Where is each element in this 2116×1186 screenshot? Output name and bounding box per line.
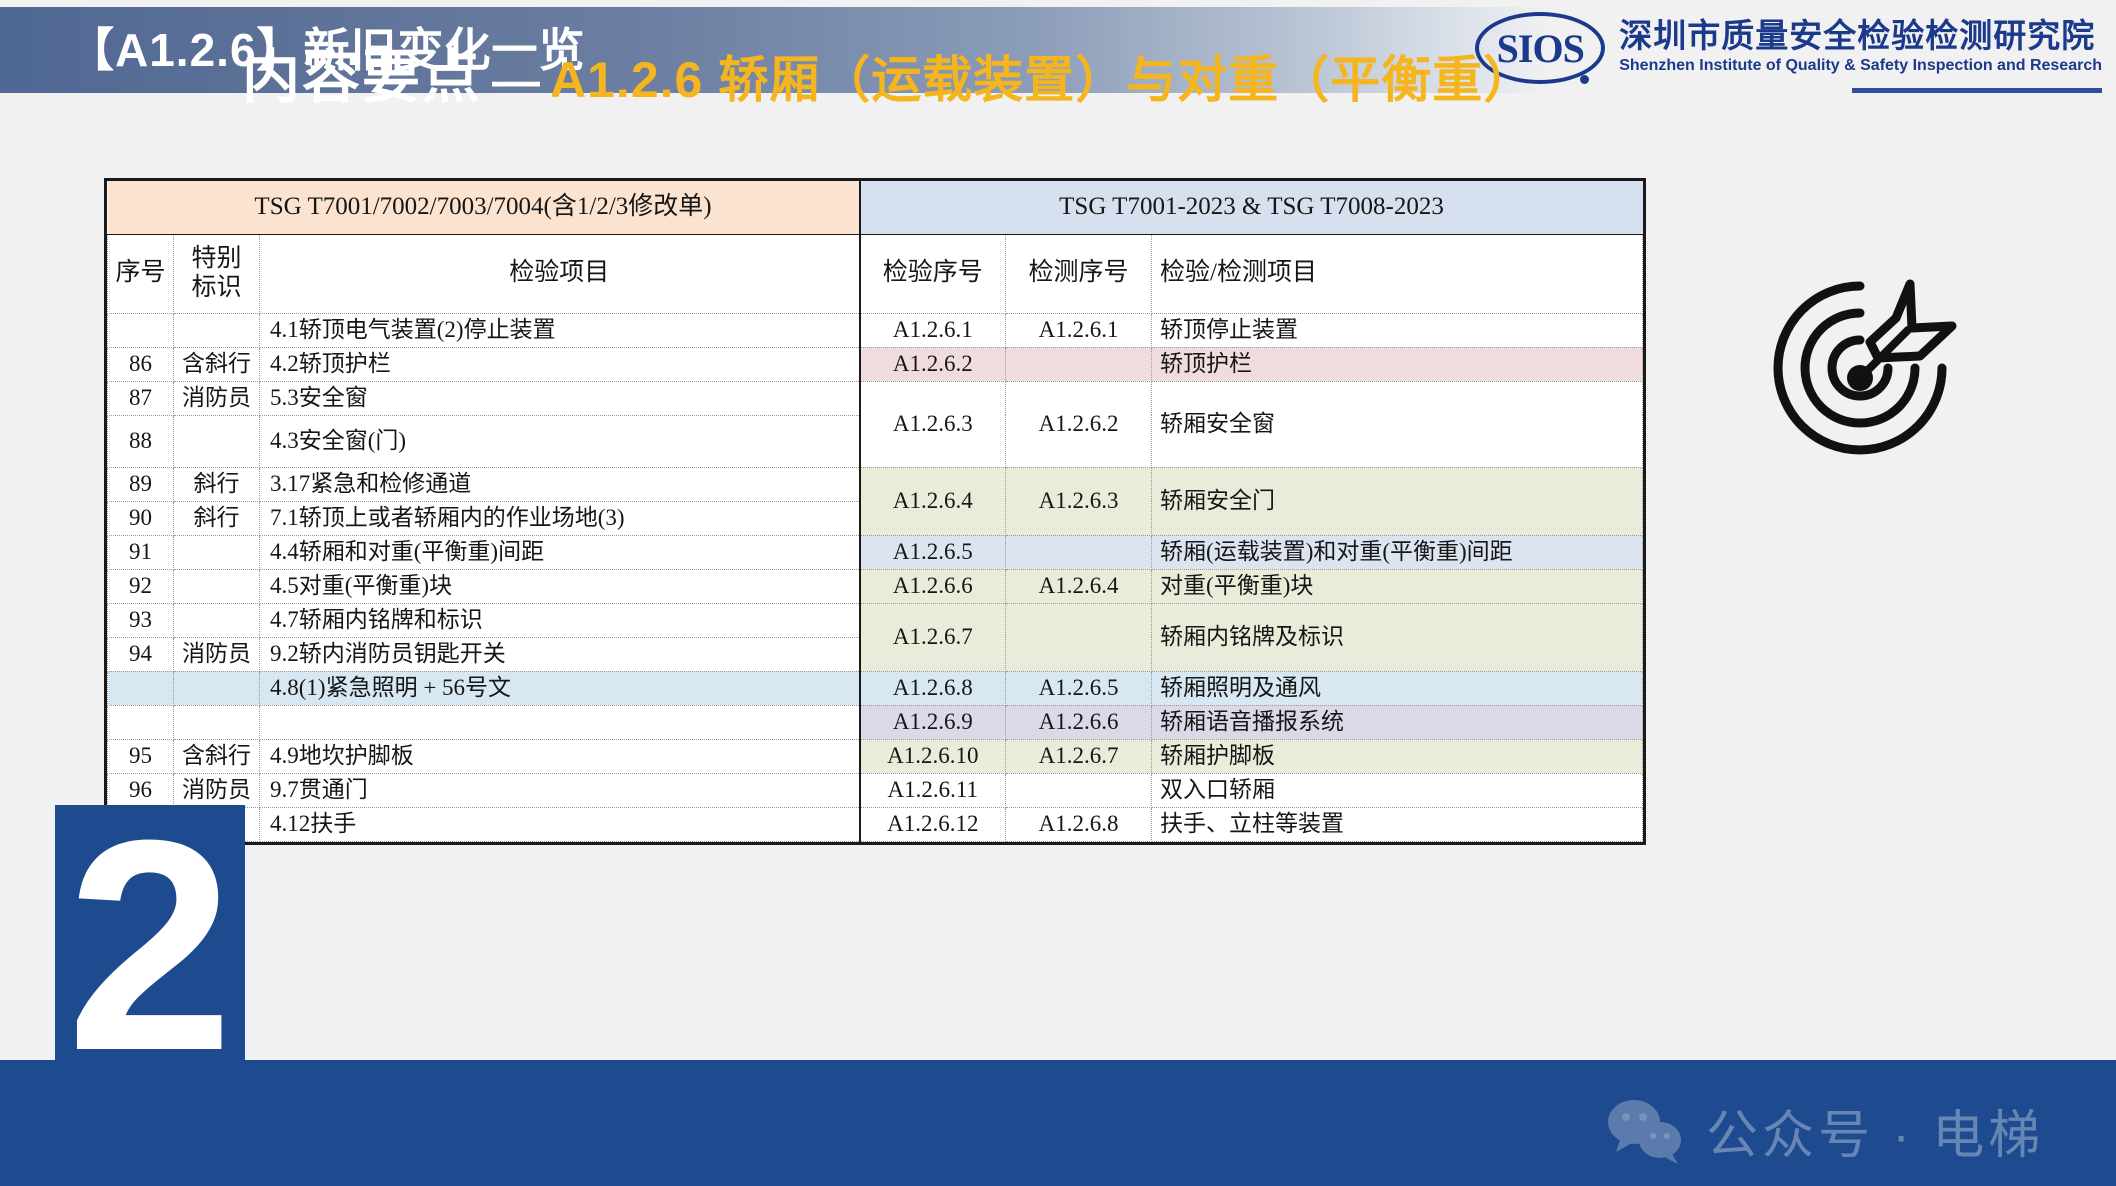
table-row: 86含斜行4.2轿顶护栏A1.2.6.2轿顶护栏 [108, 347, 1643, 381]
cell-item: 4.8(1)紧急照明 + 56号文 [260, 671, 860, 705]
table-group-header-row: TSG T7001/7002/7003/7004(含1/2/3修改单) TSG … [108, 181, 1643, 234]
cell-new-item: 轿厢照明及通风 [1152, 671, 1643, 705]
cell-inspect-no: A1.2.6.9 [860, 705, 1006, 739]
cell-detect-no: A1.2.6.2 [1006, 381, 1152, 467]
cell-new-item: 轿厢内铭牌及标识 [1152, 603, 1643, 671]
column-header-item: 检验项目 [260, 234, 860, 313]
table-row: 4.1轿顶电气装置(2)停止装置A1.2.6.1A1.2.6.1轿顶停止装置 [108, 313, 1643, 347]
table-row: 934.7轿厢内铭牌和标识A1.2.6.7轿厢内铭牌及标识 [108, 603, 1643, 637]
cell-new-item: 扶手、立柱等装置 [1152, 807, 1643, 841]
target-dart-icon [1760, 268, 1980, 468]
table-row: 914.4轿厢和对重(平衡重)间距A1.2.6.5轿厢(运载装置)和对重(平衡重… [108, 535, 1643, 569]
section-number: 2 [67, 818, 234, 1073]
cell-detect-no [1006, 603, 1152, 671]
cell-no: 86 [108, 347, 174, 381]
cell-inspect-no: A1.2.6.7 [860, 603, 1006, 671]
cell-item: 4.9地坎护脚板 [260, 739, 860, 773]
cell-new-item: 轿厢语音播报系统 [1152, 705, 1643, 739]
section-sub-label: A1.2.6 轿厢（运载装置）与对重（平衡重） [550, 52, 1534, 108]
section-dash: — [492, 55, 540, 108]
cell-no [108, 705, 174, 739]
organization-name-cn: 深圳市质量安全检验检测研究院 [1619, 16, 2102, 56]
watermark: 公众号 · 电梯 [1600, 1093, 2044, 1168]
cell-detect-no: A1.2.6.5 [1006, 671, 1152, 705]
cell-mark [174, 535, 260, 569]
cell-inspect-no: A1.2.6.8 [860, 671, 1006, 705]
watermark-text: 公众号 · 电梯 [1706, 1093, 2044, 1168]
cell-new-item: 双入口轿厢 [1152, 773, 1643, 807]
cell-mark [174, 705, 260, 739]
column-header-inspect-no: 检验序号 [860, 234, 1006, 313]
wechat-icon [1600, 1096, 1692, 1166]
cell-detect-no [1006, 535, 1152, 569]
group-header-old: TSG T7001/7002/7003/7004(含1/2/3修改单) [108, 181, 860, 234]
cell-mark: 消防员 [174, 381, 260, 415]
group-header-new: TSG T7001-2023 & TSG T7008-2023 [860, 181, 1643, 234]
cell-mark [174, 603, 260, 637]
cell-mark [174, 415, 260, 467]
cell-inspect-no: A1.2.6.12 [860, 807, 1006, 841]
cell-no: 91 [108, 535, 174, 569]
cell-inspect-no: A1.2.6.1 [860, 313, 1006, 347]
cell-inspect-no: A1.2.6.3 [860, 381, 1006, 467]
column-header-mark-line1: 特别 [176, 245, 257, 274]
column-header-mark: 特别 标识 [174, 234, 260, 313]
cell-no [108, 671, 174, 705]
cell-detect-no: A1.2.6.1 [1006, 313, 1152, 347]
logo-underline [1852, 88, 2102, 93]
organization-name-en: Shenzhen Institute of Quality & Safety I… [1619, 56, 2102, 76]
column-header-new-item: 检验/检测项目 [1152, 234, 1643, 313]
table-row: 89斜行3.17紧急和检修通道A1.2.6.4A1.2.6.3轿厢安全门 [108, 467, 1643, 501]
cell-no: 92 [108, 569, 174, 603]
cell-item: 4.2轿顶护栏 [260, 347, 860, 381]
cell-item [260, 705, 860, 739]
cell-inspect-no: A1.2.6.5 [860, 535, 1006, 569]
column-header-no: 序号 [108, 234, 174, 313]
section-number-block: 2 [55, 805, 245, 1095]
cell-item: 4.3安全窗(门) [260, 415, 860, 467]
table-row: 4.8(1)紧急照明 + 56号文A1.2.6.8A1.2.6.5轿厢照明及通风 [108, 671, 1643, 705]
cell-no: 95 [108, 739, 174, 773]
cell-new-item: 轿厢安全门 [1152, 467, 1643, 535]
bottom-banner-text: 内容要点—A1.2.6 轿厢（运载装置）与对重（平衡重） [242, 30, 1534, 114]
cell-detect-no: A1.2.6.8 [1006, 807, 1152, 841]
cell-item: 4.7轿厢内铭牌和标识 [260, 603, 860, 637]
cell-no: 94 [108, 637, 174, 671]
cell-item: 4.4轿厢和对重(平衡重)间距 [260, 535, 860, 569]
cell-detect-no: A1.2.6.7 [1006, 739, 1152, 773]
table-row: A1.2.6.9A1.2.6.6轿厢语音播报系统 [108, 705, 1643, 739]
column-header-mark-line2: 标识 [176, 274, 257, 303]
organization-logo: SIOS 深圳市质量安全检验检测研究院 Shenzhen Institute o… [1475, 8, 2102, 84]
cell-new-item: 轿厢(运载装置)和对重(平衡重)间距 [1152, 535, 1643, 569]
cell-item: 3.17紧急和检修通道 [260, 467, 860, 501]
cell-item: 5.3安全窗 [260, 381, 860, 415]
cell-new-item: 轿厢护脚板 [1152, 739, 1643, 773]
comparison-table: TSG T7001/7002/7003/7004(含1/2/3修改单) TSG … [104, 178, 1646, 845]
cell-new-item: 对重(平衡重)块 [1152, 569, 1643, 603]
cell-mark: 斜行 [174, 501, 260, 535]
cell-detect-no [1006, 347, 1152, 381]
cell-item: 4.5对重(平衡重)块 [260, 569, 860, 603]
cell-inspect-no: A1.2.6.4 [860, 467, 1006, 535]
cell-no: 88 [108, 415, 174, 467]
cell-mark [174, 671, 260, 705]
cell-item: 9.7贯通门 [260, 773, 860, 807]
cell-item: 4.1轿顶电气装置(2)停止装置 [260, 313, 860, 347]
cell-item: 4.12扶手 [260, 807, 860, 841]
cell-mark: 含斜行 [174, 347, 260, 381]
cell-detect-no: A1.2.6.6 [1006, 705, 1152, 739]
cell-detect-no: A1.2.6.3 [1006, 467, 1152, 535]
cell-mark: 斜行 [174, 467, 260, 501]
cell-mark [174, 569, 260, 603]
cell-new-item: 轿顶停止装置 [1152, 313, 1643, 347]
table-column-header-row: 序号 特别 标识 检验项目 检验序号 检测序号 检验/检测项目 [108, 234, 1643, 313]
cell-mark [174, 313, 260, 347]
cell-new-item: 轿厢安全窗 [1152, 381, 1643, 467]
cell-mark: 消防员 [174, 637, 260, 671]
cell-no [108, 313, 174, 347]
table-row: 87消防员5.3安全窗A1.2.6.3A1.2.6.2轿厢安全窗 [108, 381, 1643, 415]
cell-inspect-no: A1.2.6.11 [860, 773, 1006, 807]
cell-detect-no [1006, 773, 1152, 807]
cell-inspect-no: A1.2.6.2 [860, 347, 1006, 381]
cell-no: 90 [108, 501, 174, 535]
table-row: 96消防员9.7贯通门A1.2.6.11双入口轿厢 [108, 773, 1643, 807]
cell-inspect-no: A1.2.6.6 [860, 569, 1006, 603]
cell-inspect-no: A1.2.6.10 [860, 739, 1006, 773]
cell-detect-no: A1.2.6.4 [1006, 569, 1152, 603]
table-row: 97斜行4.12扶手A1.2.6.12A1.2.6.8扶手、立柱等装置 [108, 807, 1643, 841]
cell-item: 9.2轿内消防员钥匙开关 [260, 637, 860, 671]
cell-no: 89 [108, 467, 174, 501]
table-row: 924.5对重(平衡重)块A1.2.6.6A1.2.6.4对重(平衡重)块 [108, 569, 1643, 603]
section-main-label: 内容要点 [242, 45, 482, 110]
logo-dot-icon [1580, 75, 1589, 84]
cell-new-item: 轿顶护栏 [1152, 347, 1643, 381]
column-header-detect-no: 检测序号 [1006, 234, 1152, 313]
cell-mark: 含斜行 [174, 739, 260, 773]
table-row: 95含斜行4.9地坎护脚板A1.2.6.10A1.2.6.7轿厢护脚板 [108, 739, 1643, 773]
cell-no: 87 [108, 381, 174, 415]
cell-item: 7.1轿顶上或者轿厢内的作业场地(3) [260, 501, 860, 535]
cell-no: 93 [108, 603, 174, 637]
